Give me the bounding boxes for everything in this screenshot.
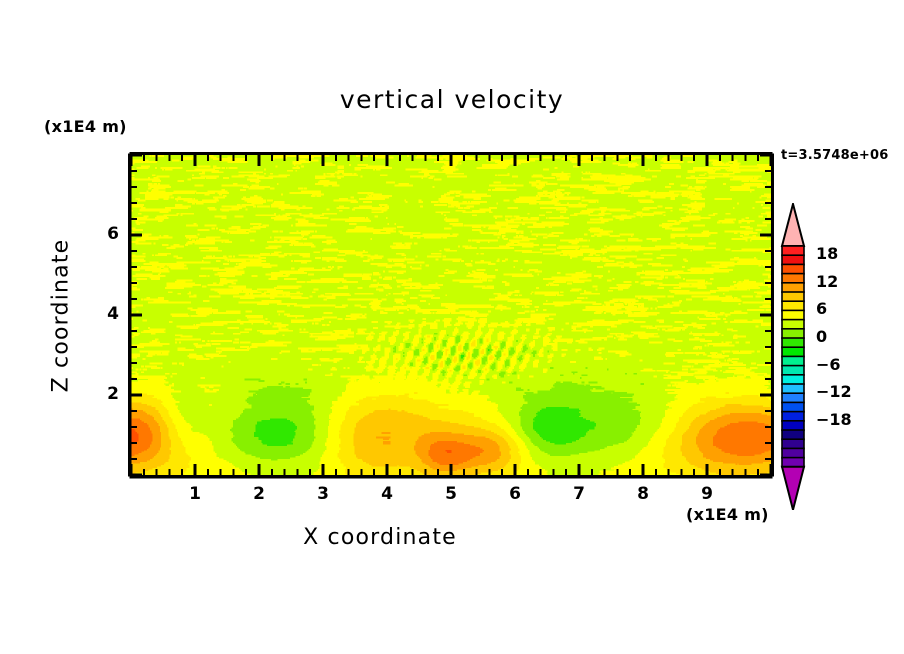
colorbar-tick-label: 12 [816, 272, 864, 291]
x-tick-label: 7 [564, 484, 594, 504]
x-tick-label: 9 [692, 484, 722, 504]
x-tick-label: 5 [436, 484, 466, 504]
y-tick-label: 2 [89, 384, 119, 404]
colorbar-tick-label: 18 [816, 244, 864, 263]
colorbar-tick-label: 6 [816, 299, 864, 318]
colorbar-tick-label: −18 [816, 410, 864, 429]
colorbar-tick-label: −12 [816, 382, 864, 401]
x-tick-label: 6 [500, 484, 530, 504]
x-tick-label: 3 [308, 484, 338, 504]
y-tick-label: 4 [89, 304, 119, 324]
contour-plot-figure: vertical velocity (x1E4 m) (x1E4 m) t=3.… [0, 0, 904, 654]
x-tick-label: 8 [628, 484, 658, 504]
x-tick-label: 1 [180, 484, 210, 504]
colorbar-tick-label: −6 [816, 355, 864, 374]
x-tick-label: 2 [244, 484, 274, 504]
colorbar-tick-label: 0 [816, 327, 864, 346]
x-tick-label: 4 [372, 484, 402, 504]
y-tick-label: 6 [89, 224, 119, 244]
plot-axes [0, 0, 904, 654]
